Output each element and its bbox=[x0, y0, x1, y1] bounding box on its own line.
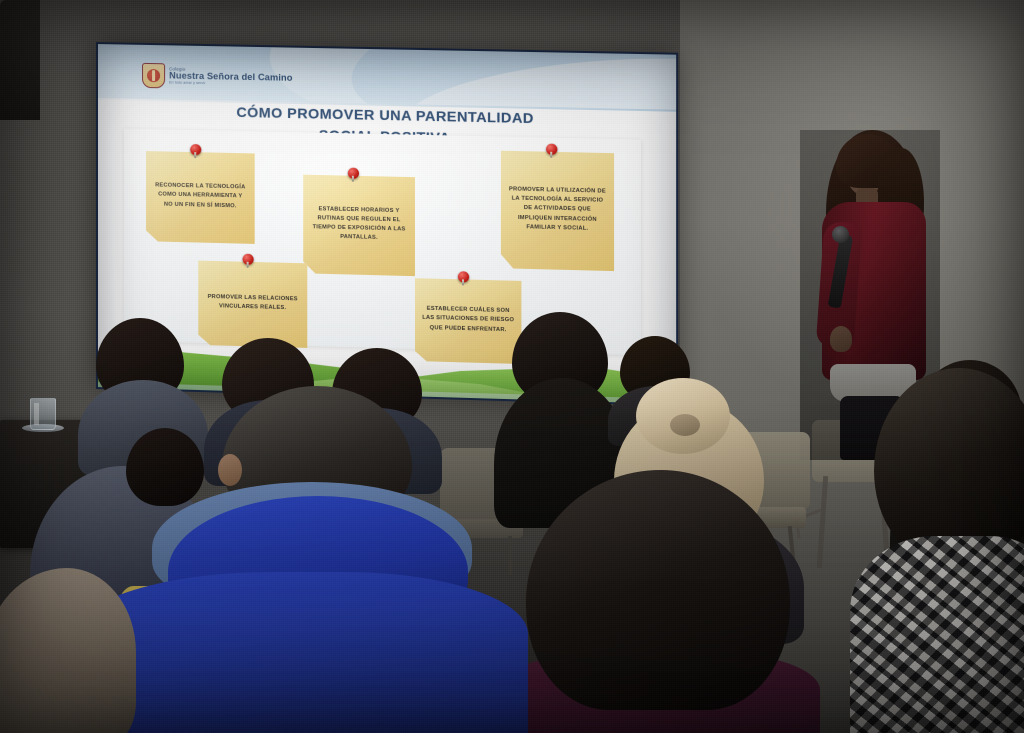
shield-icon bbox=[142, 63, 165, 88]
pushpin-icon bbox=[546, 144, 557, 155]
slide-title-line1: CÓMO PROMOVER UNA PARENTALIDAD bbox=[236, 105, 533, 127]
presenter-hand bbox=[830, 326, 852, 352]
audience-member-foreground-left bbox=[0, 568, 136, 733]
sticky-note-text: PROMOVER LA UTILIZACIÓN DE LA TECNOLOGÍA… bbox=[508, 186, 607, 234]
school-logo: Colegio Nuestra Señora del Camino En tod… bbox=[142, 63, 293, 91]
audience-ear bbox=[218, 454, 242, 486]
patterned-shawl-overlay bbox=[850, 536, 1024, 733]
audience-member-patterned-shawl bbox=[856, 368, 1024, 733]
audience-hair bbox=[0, 568, 136, 733]
sticky-note-text: PROMOVER LAS RELACIONES VINCULARES REALE… bbox=[205, 293, 300, 314]
water-glass bbox=[30, 398, 56, 430]
pushpin-icon bbox=[243, 254, 254, 265]
hair-tie bbox=[670, 414, 700, 436]
logo-text-block: Colegio Nuestra Señora del Camino En tod… bbox=[169, 67, 292, 87]
foreground-dark-edge bbox=[0, 0, 40, 120]
sticky-note: RECONOCER LA TECNOLOGÍA COMO UNA HERRAMI… bbox=[146, 151, 255, 244]
hoodie-body bbox=[68, 572, 528, 733]
audience-hair bbox=[874, 368, 1024, 558]
audience-hair bbox=[526, 470, 790, 710]
pushpin-icon bbox=[348, 168, 359, 179]
sticky-note: PROMOVER LA UTILIZACIÓN DE LA TECNOLOGÍA… bbox=[501, 151, 614, 271]
sticky-note: ESTABLECER HORARIOS Y RUTINAS QUE REGULE… bbox=[303, 175, 415, 277]
sticky-note-text: ESTABLECER HORARIOS Y RUTINAS QUE REGULE… bbox=[310, 205, 408, 244]
photo-scene: Colegio Nuestra Señora del Camino En tod… bbox=[0, 0, 1024, 733]
pushpin-icon bbox=[190, 144, 201, 155]
sticky-note-text: RECONOCER LA TECNOLOGÍA COMO UNA HERRAMI… bbox=[153, 182, 248, 211]
audience-member-foreground-center bbox=[500, 470, 800, 733]
shield-emblem-icon bbox=[147, 69, 160, 82]
pushpin-icon bbox=[458, 271, 469, 282]
